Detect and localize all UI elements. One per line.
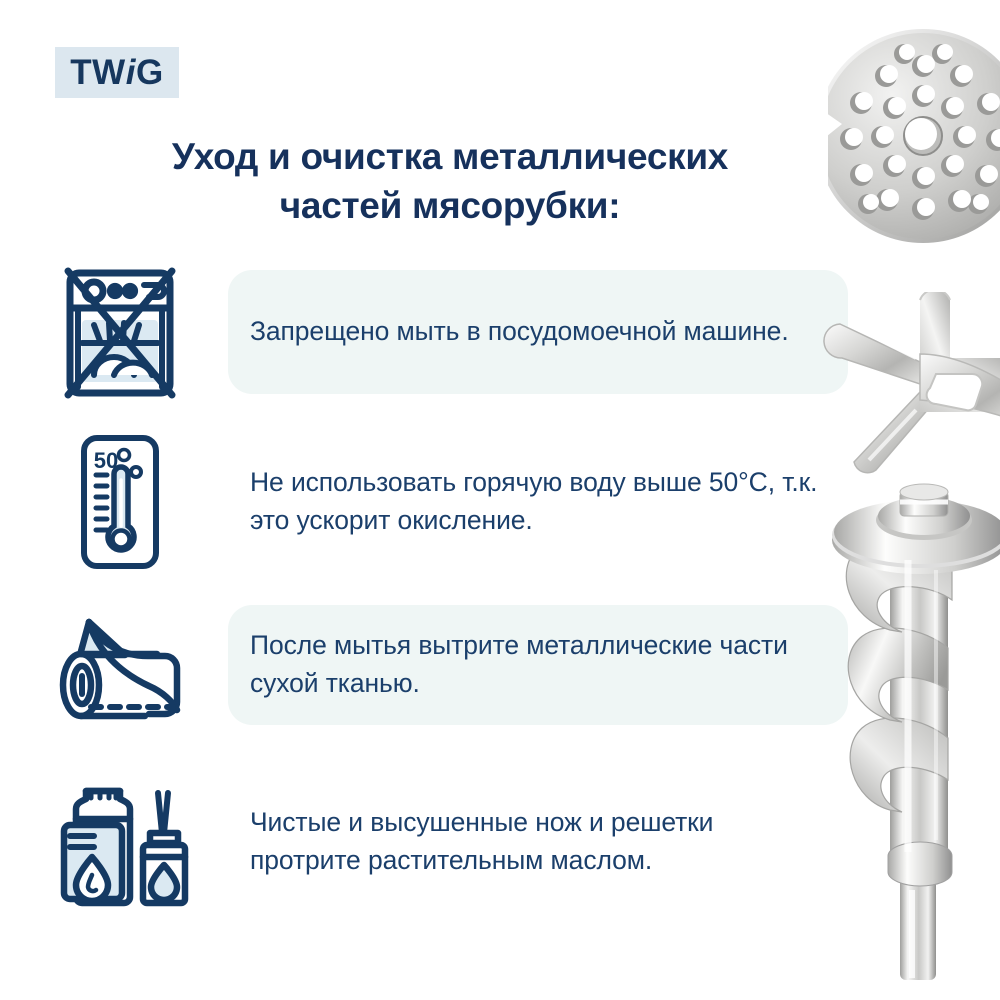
thermometer-50-icon: 50	[40, 432, 200, 572]
oil-bottles-icon	[40, 770, 200, 915]
tip-text-3: После мытья вытрите металлические части …	[250, 627, 818, 702]
tip-bubble-2: Не использовать горячую воду выше 50°C, …	[228, 444, 848, 560]
grinder-plate-photo	[828, 18, 1000, 253]
tip-bubble-1: Запрещено мыть в посудомоечной машине.	[228, 270, 848, 394]
brand-logo-text: TWiG	[70, 55, 163, 90]
tip-bubble-3: После мытья вытрите металлические части …	[228, 605, 848, 725]
tip-text-1: Запрещено мыть в посудомоечной машине.	[250, 313, 789, 351]
no-dishwasher-icon	[40, 257, 200, 407]
page-title-line-1: Уход и очистка металлических	[60, 133, 840, 182]
tip-bubble-4: Чистые и высушенные нож и решетки протри…	[228, 786, 848, 898]
cloth-roll-icon	[40, 600, 200, 740]
grinder-blade-photo	[816, 292, 1000, 477]
grinder-auger-photo	[832, 480, 1000, 980]
page-title: Уход и очистка металлических частей мясо…	[60, 133, 840, 231]
tip-text-4: Чистые и высушенные нож и решетки протри…	[250, 804, 818, 879]
infographic-page: TWiG Уход и очистка металлических частей…	[0, 0, 1000, 1000]
page-title-line-2: частей мясорубки:	[60, 182, 840, 231]
brand-logo: TWiG	[55, 47, 179, 98]
tip-text-2: Не использовать горячую воду выше 50°C, …	[250, 464, 818, 539]
